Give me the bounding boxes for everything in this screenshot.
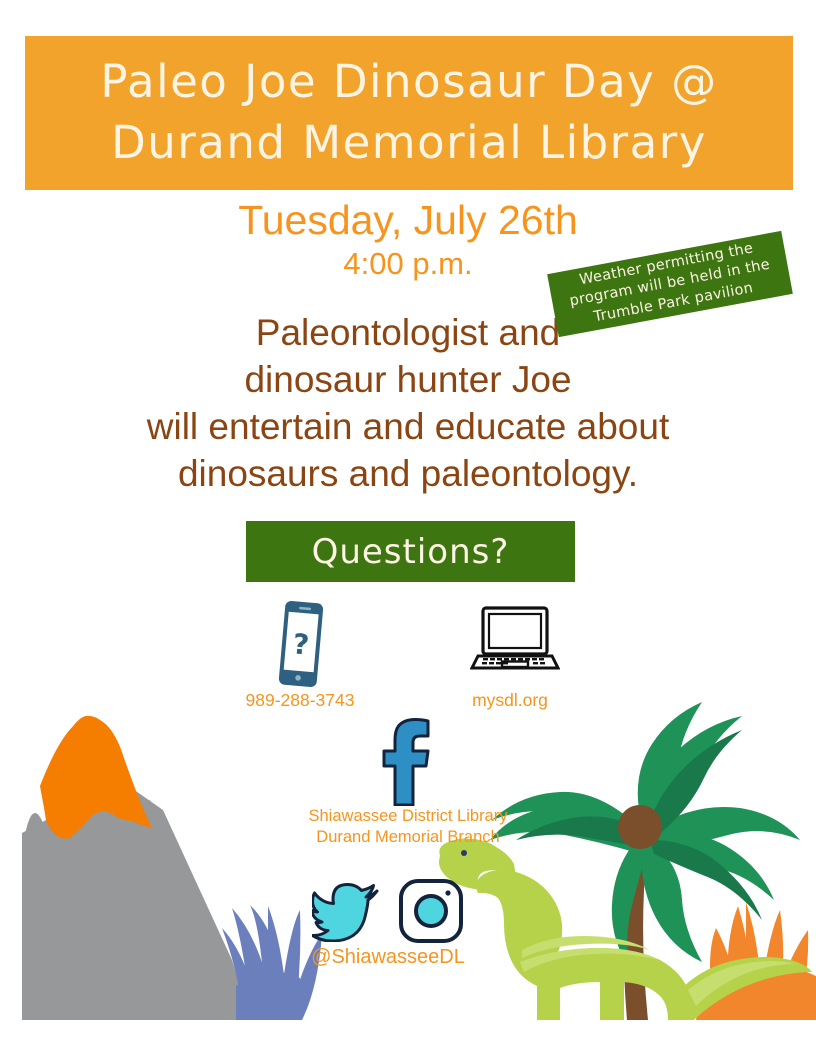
description-line-1: Paleontologist and: [0, 310, 816, 357]
title-line-1: Paleo Joe Dinosaur Day @: [100, 52, 717, 113]
instagram-link[interactable]: [398, 878, 464, 949]
description-line-2: dinosaur hunter Joe: [0, 357, 816, 404]
facebook-label: Shiawassee District Library Durand Memor…: [108, 806, 708, 847]
twitter-bird-icon: [312, 882, 380, 942]
title-banner: Paleo Joe Dinosaur Day @ Durand Memorial…: [25, 36, 793, 190]
title-line-2: Durand Memorial Library: [111, 113, 707, 174]
questions-banner: Questions?: [246, 521, 575, 582]
questions-heading: Questions?: [312, 532, 510, 572]
sauropod-dinosaur: [439, 839, 812, 1021]
contact-row: ? 989-2: [0, 596, 816, 716]
volcano-mountain: [22, 716, 250, 1020]
facebook-label-line-1: Shiawassee District Library: [309, 807, 508, 825]
description-line-3: will entertain and educate about: [0, 404, 816, 451]
mobile-phone-question-icon: ?: [272, 598, 330, 690]
website-contact[interactable]: [470, 604, 560, 679]
poster-canvas: Paleo Joe Dinosaur Day @ Durand Memorial…: [0, 0, 816, 1056]
svg-text:?: ?: [291, 627, 310, 661]
orange-grass-tuft: [696, 902, 816, 1020]
phone-contact[interactable]: ?: [272, 598, 330, 695]
palm-tree: [490, 702, 800, 1020]
laptop-icon: [470, 604, 560, 674]
event-description: Paleontologist and dinosaur hunter Joe w…: [0, 310, 816, 498]
facebook-icon: [378, 718, 436, 806]
twitter-link[interactable]: [312, 882, 380, 947]
facebook-link[interactable]: [378, 718, 436, 811]
social-handle-label[interactable]: @ShiawasseeDL: [208, 946, 568, 969]
instagram-camera-icon: [398, 878, 464, 944]
phone-number-label[interactable]: 989-288-3743: [200, 690, 400, 711]
description-line-4: dinosaurs and paleontology.: [0, 451, 816, 498]
facebook-label-line-2: Durand Memorial Branch: [316, 828, 499, 846]
website-label[interactable]: mysdl.org: [410, 690, 610, 711]
event-date: Tuesday, July 26th: [0, 198, 816, 244]
